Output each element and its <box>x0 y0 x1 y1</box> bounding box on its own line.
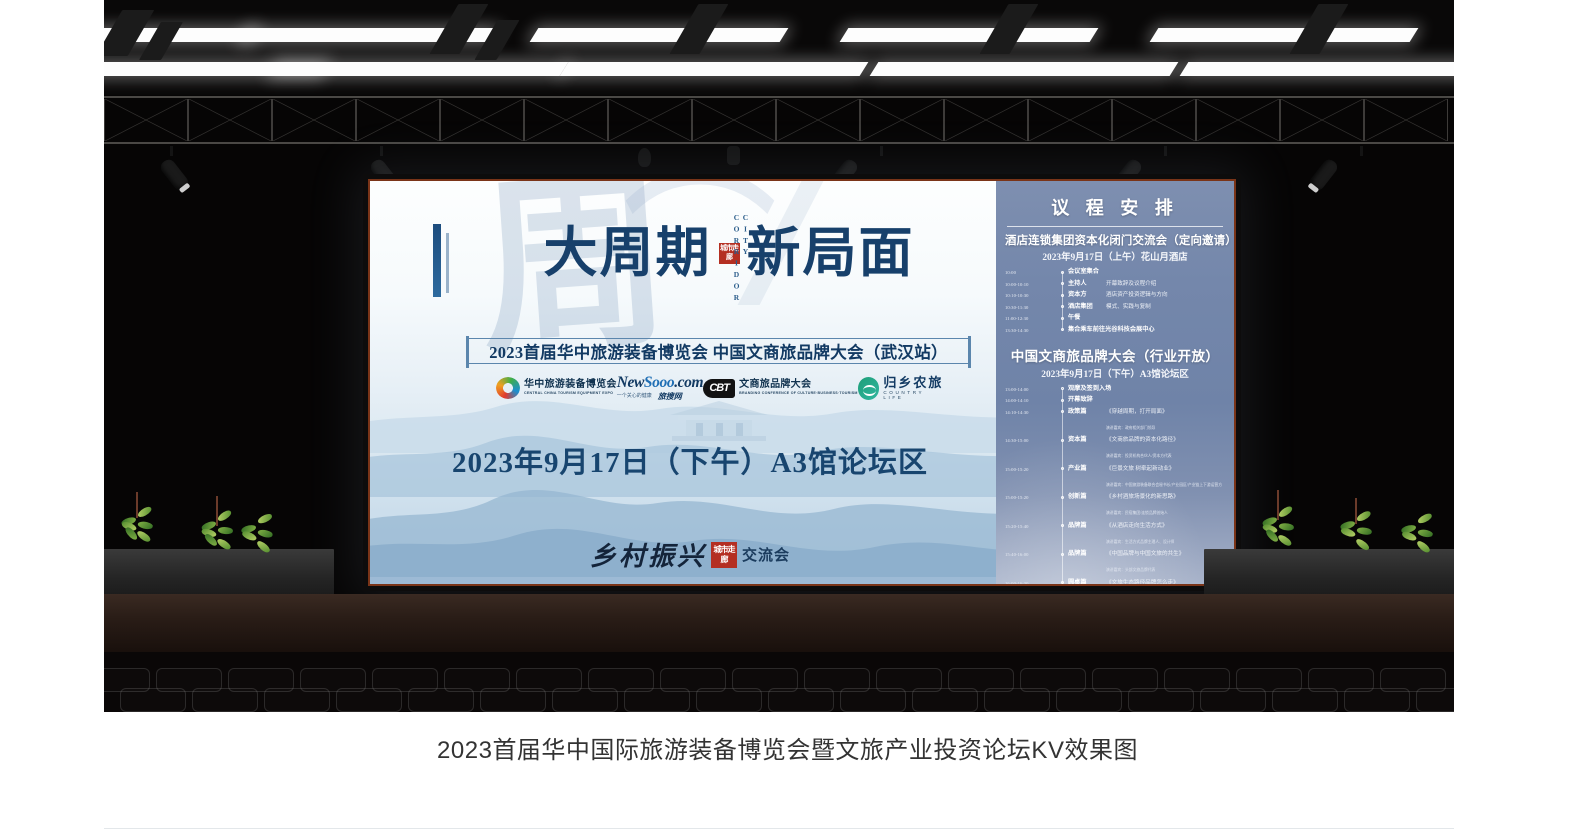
decorative-vertical-bar <box>433 224 441 297</box>
vertical-en-bottom: CORRIDOR <box>732 213 741 317</box>
ceiling-light-bar <box>560 62 869 76</box>
agenda-section-afternoon: 中国文商旅品牌大会（行业开放） 2023年9月17日（下午）A3馆论坛区 13:… <box>1005 345 1225 585</box>
agenda-row: 14:30-15:00 资本篇《文商旅品牌的资本化路径》 演讲嘉宾：投资机构合伙… <box>1005 436 1225 462</box>
agenda-row: 15:20-15:40 品牌篇《从酒店走向生活方式》 演讲嘉宾：生活方式品牌主理… <box>1005 522 1225 548</box>
truss-structure <box>104 96 1454 146</box>
planter-box <box>1204 549 1454 599</box>
kv-subtitle-frame: 2023首届华中旅游装备博览会 中国文商旅品牌大会（武汉站） <box>466 338 971 364</box>
stage-deck <box>104 594 1454 652</box>
agenda-topic: 《巨景文旅 树牵起新动业》 <box>1106 465 1175 473</box>
planter-box <box>104 549 334 599</box>
agenda-section-date: 2023年9月17日（下午）A3馆论坛区 <box>1005 366 1225 380</box>
agenda-row: 10:10-10:30 资本方酒店资产投资逻辑与方向 <box>1005 291 1225 300</box>
vertical-en-top: CITY <box>741 213 750 317</box>
ceiling-light-bar <box>270 62 569 76</box>
agenda-row: 15:00-15:20 产业篇《巨景文旅 树牵起新动业》 演讲嘉宾：中国旅游装备… <box>1005 465 1225 491</box>
agenda-topic: 《中国品牌与中国文旅的共生》 <box>1106 550 1184 558</box>
agenda-bullet-icon <box>1057 303 1068 309</box>
agenda-row: 14:10-14:30 政策篇《穿越周期，打开局面》 演讲嘉宾：政府相关部门领导 <box>1005 408 1225 434</box>
agenda-section-heading: 中国文商旅品牌大会（行业开放） <box>1005 345 1225 365</box>
agenda-tag: 产业篇 <box>1068 465 1102 473</box>
kv-title: 大周期 城市走廊 新局面 <box>494 226 964 280</box>
agenda-time: 10:00-10:10 <box>1005 280 1057 289</box>
agenda-row: 11:00-12:30 午餐 <box>1005 314 1225 323</box>
stage-photo: 周 ⌒ ╱ <box>104 0 1454 712</box>
logo-en-label: COUNTRY LIFE <box>883 391 944 400</box>
vertical-english-label: CITY CORRIDOR <box>732 213 750 317</box>
logo-cbt: CBT 文商旅品牌大会 BRANDING CONFERENCE OF CULTU… <box>703 379 857 398</box>
spotlight-stem <box>1360 146 1363 156</box>
ceiling-light-bar <box>840 28 1099 42</box>
agenda-row: 14:00-14:10 开幕致辞 <box>1005 396 1225 405</box>
spotlight-fixture <box>727 146 740 165</box>
agenda-time: 10:30-11:30 <box>1005 303 1057 312</box>
agenda-row: 10:00-10:10 主持人开幕致辞及议程介绍 <box>1005 280 1225 289</box>
agenda-time: 15:40-16:00 <box>1005 550 1057 559</box>
logo-cn-label: 归乡农旅 <box>883 376 944 389</box>
kv-title-right: 新局面 <box>747 226 915 280</box>
logo-cn-label: 文商旅品牌大会 <box>739 380 857 390</box>
spotlight-stem <box>880 146 883 156</box>
logo-newsooo: NewSooo.com 一个关心的健康 旅搜网 <box>617 375 703 401</box>
agenda-bullet-icon <box>1057 385 1068 391</box>
agenda-tag: 会议室集合 <box>1068 268 1102 276</box>
agenda-topic: 《乡村酒旅场景化的新思路》 <box>1106 493 1179 501</box>
logo-en-label: CENTRAL CHINA TOURISM EQUIPMENT EXPO <box>524 392 617 396</box>
agenda-tag: 品牌篇 <box>1068 550 1102 558</box>
agenda-bullet-icon <box>1057 436 1068 442</box>
agenda-tag: 集合乘车前往光谷科技会展中心 <box>1068 326 1155 334</box>
spotlight-stem <box>170 146 173 156</box>
agenda-sub: 演讲嘉宾：投资机构合伙人/资本方代表 <box>1068 454 1172 458</box>
logo-cn-label: 华中旅游装备博览会 <box>524 380 617 390</box>
agenda-section-date: 2023年9月17日（上午）花山月酒店 <box>1005 249 1225 263</box>
logo-en-label: BRANDING CONFERENCE OF CULTURE·BUSINESS·… <box>739 392 857 396</box>
agenda-topic: 《从酒店走向生活方式》 <box>1106 522 1168 530</box>
agenda-row-list: 13:00-14:00 观摩及签到入场 14:00-14:10 开幕致辞 14:… <box>1005 385 1225 585</box>
agenda-tag: 开幕致辞 <box>1068 396 1102 404</box>
agenda-topic: 《穿越周期，打开局面》 <box>1106 408 1168 416</box>
agenda-tag: 资本篇 <box>1068 436 1102 444</box>
agenda-time: 15:00-15:20 <box>1005 493 1057 502</box>
agenda-row: 13:30-14:30 集合乘车前往光谷科技会展中心 <box>1005 326 1225 335</box>
agenda-divider <box>1007 226 1223 227</box>
agenda-tag: 品牌篇 <box>1068 522 1102 530</box>
ceiling-light-bar <box>870 62 1179 76</box>
rainbow-swirl-icon <box>496 377 520 399</box>
agenda-time: 10:10-10:30 <box>1005 291 1057 300</box>
agenda-sub: 模式、实践与复制 <box>1106 303 1151 311</box>
agenda-section-heading: 酒店连锁集团资本化闭门交流会（定向邀请） <box>1005 232 1225 248</box>
agenda-time: 14:30-15:00 <box>1005 436 1057 445</box>
decorative-vertical-bar-thin <box>446 233 449 293</box>
agenda-row: 15:40-16:00 品牌篇《中国品牌与中国文旅的共生》 演讲嘉宾：头部文旅品… <box>1005 550 1225 576</box>
agenda-row: 13:00-14:00 观摩及签到入场 <box>1005 385 1225 394</box>
newsooo-a: New <box>617 374 644 391</box>
spotlight-fixture <box>638 148 651 167</box>
spotlight-fixture <box>158 157 191 193</box>
agenda-sub: 酒店资产投资逻辑与方向 <box>1106 291 1168 299</box>
agenda-row-list: 10:00 会议室集合 10:00-10:10 主持人开幕致辞及议程介绍 10:… <box>1005 268 1225 335</box>
newsooo-tagline: 一个关心的健康 <box>617 394 652 399</box>
agenda-time: 11:00-12:30 <box>1005 314 1057 323</box>
kv-subtitle: 2023首届华中旅游装备博览会 中国文商旅品牌大会（武汉站） <box>489 339 948 363</box>
agenda-time: 14:00-14:10 <box>1005 396 1057 405</box>
spotlight-stem <box>380 146 383 156</box>
audience-seating <box>104 668 1454 712</box>
agenda-section-morning: 酒店连锁集团资本化闭门交流会（定向邀请） 2023年9月17日（上午）花山月酒店… <box>1005 232 1225 335</box>
agenda-bullet-icon <box>1057 493 1068 499</box>
agenda-tag: 酒店集团 <box>1068 303 1102 311</box>
screen-content: 周 ⌒ ╱ <box>370 181 1234 584</box>
agenda-time: 10:00 <box>1005 268 1057 277</box>
newsooo-c: .com <box>674 374 703 391</box>
agenda-row: 10:30-11:30 酒店集团模式、实践与复制 <box>1005 303 1225 312</box>
agenda-tag: 主持人 <box>1068 280 1102 288</box>
agenda-time: 16:00-16:30 <box>1005 579 1057 585</box>
left-gutter <box>0 0 104 712</box>
agenda-panel: 议 程 安 排 酒店连锁集团资本化闭门交流会（定向邀请） 2023年9月17日（… <box>996 181 1234 584</box>
kv-title-left: 大周期 <box>544 226 712 280</box>
agenda-tag: 创新篇 <box>1068 493 1102 501</box>
agenda-sub: 演讲嘉宾：头部文旅品牌代表 <box>1068 568 1155 572</box>
newsooo-wordmark-icon: NewSooo.com 一个关心的健康 旅搜网 <box>617 375 703 401</box>
agenda-sub: 演讲嘉宾：中国旅游装备联合会秘书长/产业园区/产业链上下游运营方 <box>1068 483 1222 487</box>
kv-date-line: 2023年9月17日（下午）A3馆论坛区 <box>370 439 1010 481</box>
agenda-row: 16:00-16:30 圆桌篇《文旅生态路径品牌怎么走》 主持人：媒体/行业智库… <box>1005 579 1225 585</box>
agenda-bullet-icon <box>1057 326 1068 332</box>
bottom-divider <box>104 828 1454 829</box>
country-life-leaf-icon <box>858 377 880 400</box>
agenda-sub: 演讲嘉宾：生活方式品牌主理人、设计师 <box>1068 540 1174 544</box>
agenda-bullet-icon <box>1057 408 1068 414</box>
agenda-time: 15:20-15:40 <box>1005 522 1057 531</box>
kv-footer-small-text: 交流会 <box>742 544 790 565</box>
agenda-sub: 开幕致辞及议程介绍 <box>1106 280 1156 288</box>
agenda-time: 14:10-14:30 <box>1005 408 1057 417</box>
ceiling-light-bar <box>1180 62 1454 76</box>
agenda-row: 15:00-15:20 创新篇《乡村酒旅场景化的新思路》 演讲嘉宾：民宿集团/连… <box>1005 493 1225 519</box>
ceiling-light-bar <box>1150 28 1419 42</box>
key-visual-artwork: 周 ⌒ ╱ <box>370 181 1010 584</box>
agenda-time: 13:30-14:30 <box>1005 326 1057 335</box>
agenda-bullet-icon <box>1057 291 1068 297</box>
agenda-sub: 演讲嘉宾：民宿集团/连锁品牌创始人 <box>1068 511 1168 515</box>
logo-country-life: 归乡农旅 COUNTRY LIFE <box>858 376 945 400</box>
agenda-tag: 圆桌篇 <box>1068 579 1102 585</box>
logo-central-china-expo: 华中旅游装备博览会 CENTRAL CHINA TOURISM EQUIPMEN… <box>496 377 617 399</box>
ceiling <box>104 0 1454 95</box>
image-caption: 2023首届华中国际旅游装备博览会暨文旅产业投资论坛KV效果图 <box>0 730 1575 765</box>
agenda-tag: 资本方 <box>1068 291 1102 299</box>
agenda-bullet-icon <box>1057 579 1068 585</box>
ceiling-light-bar <box>530 28 789 42</box>
agenda-tag: 观摩及签到入场 <box>1068 385 1111 393</box>
agenda-row: 10:00 会议室集合 <box>1005 268 1225 277</box>
page-root: 周 ⌒ ╱ <box>0 0 1575 839</box>
spotlight-fixture <box>1307 157 1340 193</box>
agenda-bullet-icon <box>1057 280 1068 286</box>
seal-stamp-icon: 城市走廊 <box>711 542 737 568</box>
spotlight-stem <box>1164 146 1167 156</box>
agenda-topic: 《文旅生态路径品牌怎么走》 <box>1106 579 1179 585</box>
agenda-bullet-icon <box>1057 522 1068 528</box>
kv-footer: 乡村振兴 城市走廊 交流会 <box>370 536 1010 573</box>
agenda-bullet-icon <box>1057 314 1068 320</box>
cbt-monogram-icon: CBT <box>703 379 735 398</box>
led-display-screen[interactable]: 周 ⌒ ╱ <box>363 174 1241 591</box>
agenda-bullet-icon <box>1057 550 1068 556</box>
agenda-bullet-icon <box>1057 268 1068 274</box>
newsooo-b: Sooo <box>644 374 674 391</box>
right-gutter <box>1454 0 1575 712</box>
agenda-tag: 政策篇 <box>1068 408 1102 416</box>
agenda-bullet-icon <box>1057 396 1068 402</box>
agenda-time: 15:00-15:20 <box>1005 465 1057 474</box>
agenda-time: 13:00-14:00 <box>1005 385 1057 394</box>
agenda-title: 议 程 安 排 <box>1005 194 1225 220</box>
agenda-topic: 《文商旅品牌的资本化路径》 <box>1106 436 1179 444</box>
kv-footer-brush-text: 乡村振兴 <box>590 536 706 573</box>
agenda-sub: 演讲嘉宾：政府相关部门领导 <box>1068 426 1155 430</box>
agenda-tag: 午餐 <box>1068 314 1102 322</box>
agenda-bullet-icon <box>1057 465 1068 471</box>
